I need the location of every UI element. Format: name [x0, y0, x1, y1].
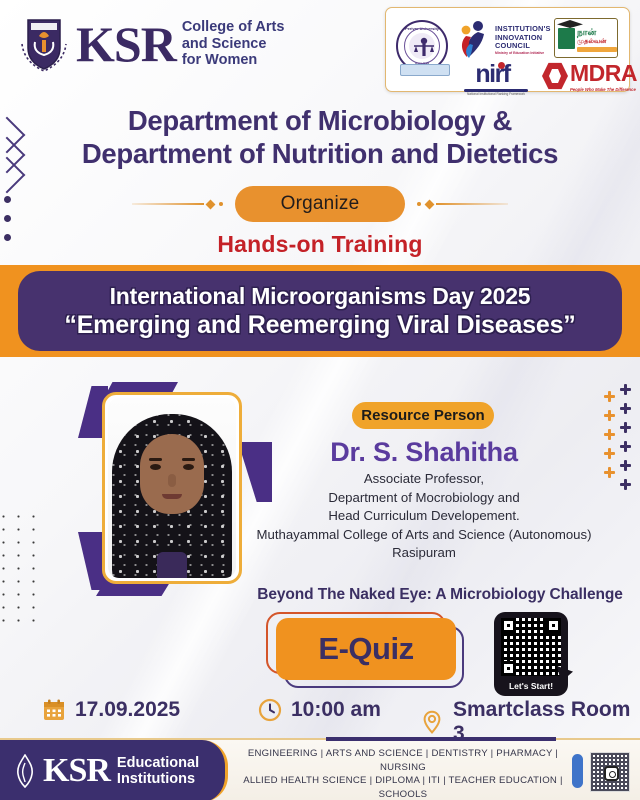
affiliation-line4: Muthayammal College of Arts and Science … — [256, 526, 592, 545]
footer-programs: ENGINEERING | ARTS AND SCIENCE | DENTIST… — [238, 747, 568, 800]
calendar-icon — [42, 698, 66, 722]
event-details-row: 17.09.2025 10:00 am Smartclass Room 3 — [0, 698, 640, 732]
ksr-tagline-line3: for Women — [182, 52, 285, 69]
quiz-tagline: Beyond The Naked Eye: A Microbiology Cha… — [244, 586, 636, 604]
periyar-university-seal-icon: Periyar University SALEM — [396, 20, 448, 72]
dot-grid-decoration — [0, 510, 42, 628]
ksr-tagline-line2: and Science — [182, 36, 285, 53]
clock-icon — [258, 698, 282, 722]
mdra-logo-icon: MDRA People Who Make The Difference — [542, 60, 637, 92]
speaker-photo-block — [78, 382, 268, 594]
event-time: 10:00 am — [258, 698, 381, 722]
mdra-tagline: People Who Make The Difference — [570, 87, 637, 92]
naan-tamil-line2: முதல்வன் — [577, 38, 606, 46]
event-banner: International Microorganisms Day 2025 “E… — [18, 271, 622, 351]
footer-brand-line1: Educational — [117, 755, 199, 772]
location-pin-icon — [420, 710, 444, 734]
flame-icon — [14, 754, 36, 788]
footer-accent-bar — [326, 737, 556, 741]
resource-person-badge: Resource Person — [352, 402, 494, 429]
ornament-left — [132, 201, 225, 208]
resource-person-affiliation: Associate Professor, Department of Mocro… — [256, 470, 592, 563]
footer-brand-text: Educational Institutions — [117, 755, 199, 788]
qr-caption: Let's Start! — [494, 681, 568, 691]
ksr-crest-icon — [18, 14, 70, 74]
event-date: 17.09.2025 — [42, 698, 180, 722]
ksr-college-logo: KSR College of Arts and Science for Wome… — [18, 14, 284, 74]
plus-decoration-orange — [604, 384, 615, 478]
footer-programs-line2: ALLIED HEALTH SCIENCE | DIPLOMA | ITI | … — [238, 774, 568, 800]
nirf-logo-icon: nirf National Institutional Ranking Fram… — [464, 60, 528, 96]
page-title-line1: Department of Microbiology & — [0, 104, 640, 137]
partner-logos-panel: Periyar University SALEM — [385, 7, 630, 92]
instagram-icon — [604, 766, 619, 781]
qr-pattern — [501, 618, 561, 676]
affiliation-line5: Rasipuram — [256, 544, 592, 563]
event-time-text: 10:00 am — [291, 698, 381, 722]
iic-logo-icon: INSTITUTION'S INNOVATION COUNCIL Ministr… — [458, 20, 551, 60]
footer-instagram-qr[interactable] — [590, 752, 630, 792]
iic-ministry-line: Ministry of Education Initiative — [495, 51, 551, 55]
event-title-line1: International Microorganisms Day 2025 — [110, 282, 531, 310]
page-title: Department of Microbiology & Department … — [0, 104, 640, 170]
quiz-qr-code[interactable]: Let's Start! — [494, 612, 568, 696]
ksr-tagline-line1: College of Arts — [182, 19, 285, 36]
mdra-wordmark: MDRA — [570, 60, 637, 87]
footer-brand-line2: Institutions — [117, 771, 199, 788]
organize-badge: Organize — [235, 186, 406, 222]
poster-header: KSR College of Arts and Science for Wome… — [0, 0, 640, 98]
event-poster: KSR College of Arts and Science for Wome… — [0, 0, 640, 800]
nirf-fullname: National Institutional Ranking Framework — [467, 92, 525, 96]
ksr-wordmark: KSR — [76, 19, 176, 69]
organize-row: Organize — [0, 186, 640, 222]
resource-person-name: Dr. S. Shahitha — [276, 437, 572, 468]
affiliation-line1: Associate Professor, — [256, 470, 592, 489]
equiz-block: E-Quiz — [276, 618, 456, 680]
ornament-right — [415, 201, 508, 208]
equiz-button[interactable]: E-Quiz — [276, 618, 456, 680]
footer-programs-line1: ENGINEERING | ARTS AND SCIENCE | DENTIST… — [238, 747, 568, 774]
hands-on-training-label: Hands-on Training — [0, 231, 640, 258]
periyar-seal-name: Periyar University — [398, 26, 446, 31]
page-title-line2: Department of Nutrition and Dietetics — [0, 137, 640, 170]
iic-line3: COUNCIL — [495, 42, 551, 51]
poster-footer: KSR Educational Institutions ENGINEERING… — [0, 738, 640, 800]
event-title-line2: “Emerging and Reemerging Viral Diseases” — [64, 310, 575, 340]
naan-mudhalvan-logo-icon: நான் முதல்வன் — [554, 18, 618, 58]
ksr-educational-institutions-logo: KSR Educational Institutions — [0, 740, 228, 800]
affiliation-line2: Department of Mocrobiology and — [256, 489, 592, 508]
plus-decoration-purple — [620, 384, 631, 490]
footer-ksr-wordmark: KSR — [43, 752, 110, 790]
avatar — [108, 398, 236, 578]
affiliation-line3: Head Curriculum Developement. — [256, 507, 592, 526]
speaker-photo-frame — [102, 392, 242, 584]
footer-pin-decoration — [572, 754, 583, 788]
ksr-tagline: College of Arts and Science for Women — [182, 19, 285, 69]
event-date-text: 17.09.2025 — [75, 698, 180, 722]
